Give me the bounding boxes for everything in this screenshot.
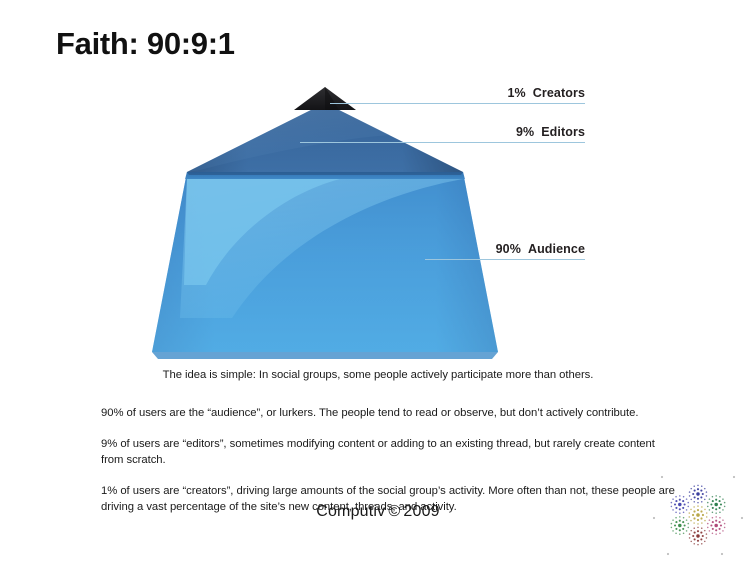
callout-label-editors: 9%Editors — [516, 125, 585, 139]
pyramid-tier-audience — [152, 172, 498, 359]
pyramid-svg — [140, 80, 510, 360]
paragraph-audience: 90% of users are the “audience”, or lurk… — [0, 406, 756, 422]
callout-name-creators: Creators — [533, 86, 585, 100]
page-title: Faith: 90:9:1 — [56, 26, 235, 62]
computiv-flower-logo — [648, 468, 748, 563]
pyramid-chart — [140, 80, 510, 360]
callout-line-editors — [300, 142, 585, 143]
flower-logo-svg — [648, 468, 748, 563]
callout-percent-editors: 9% — [516, 125, 534, 139]
lead-paragraph: The idea is simple: In social groups, so… — [0, 368, 756, 384]
callout-line-audience — [425, 259, 585, 260]
callout-name-audience: Audience — [528, 242, 585, 256]
callout-label-audience: 90%Audience — [496, 242, 585, 256]
callout-label-creators: 1%Creators — [508, 86, 586, 100]
pyramid-tier-creators — [294, 87, 356, 110]
callout-percent-creators: 1% — [508, 86, 526, 100]
callout-line-creators — [330, 103, 585, 104]
callout-name-editors: Editors — [541, 125, 585, 139]
callout-percent-audience: 90% — [496, 242, 521, 256]
paragraph-editors: 9% of users are “editors”, sometimes mod… — [0, 437, 756, 468]
footer-credit: Computiv©2009 — [0, 503, 756, 521]
footer-brand: Computiv — [316, 503, 385, 520]
copyright-icon: © — [388, 503, 400, 520]
footer-year: 2009 — [403, 503, 439, 520]
